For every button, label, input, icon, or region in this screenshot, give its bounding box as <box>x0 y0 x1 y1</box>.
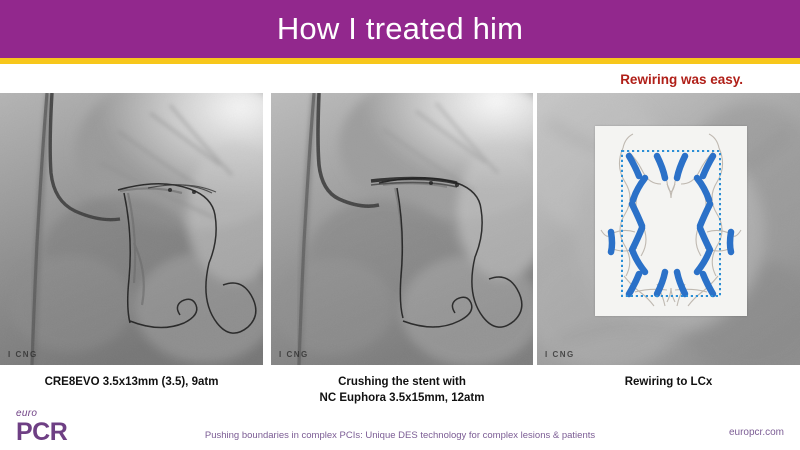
panel-caption-3: Rewiring to LCx <box>537 374 800 390</box>
footer-url[interactable]: europcr.com <box>729 427 784 438</box>
angiogram-image-1 <box>0 93 263 365</box>
footer-tagline: Pushing boundaries in complex PCIs: Uniq… <box>0 430 800 441</box>
page-title: How I treated him <box>0 0 800 58</box>
angiogram-panel-2[interactable]: I CNG <box>271 93 533 365</box>
angiogram-panel-3[interactable]: I CNG <box>537 93 800 365</box>
angiogram-panel-1[interactable]: I CNG <box>0 93 263 365</box>
panel-caption-2-line2: NC Euphora 3.5x15mm, 12atm <box>271 390 533 406</box>
angiogram-panels-row: I CNG <box>0 93 800 365</box>
panel-caption-1: CRE8EVO 3.5x13mm (3.5), 9atm <box>0 374 263 390</box>
angio-marker-1: I CNG <box>8 350 38 359</box>
header-accent-stripe <box>0 58 800 64</box>
rewiring-note: Rewiring was easy. <box>620 72 743 87</box>
angio-marker-3: I CNG <box>545 350 575 359</box>
angio-marker-2: I CNG <box>279 350 309 359</box>
stent-strut-diagram <box>595 126 747 316</box>
panel-caption-2: Crushing the stent with NC Euphora 3.5x1… <box>271 374 533 406</box>
angiogram-image-2 <box>271 93 533 365</box>
stent-schematic-card <box>595 126 747 316</box>
panel-caption-2-line1: Crushing the stent with <box>271 374 533 390</box>
